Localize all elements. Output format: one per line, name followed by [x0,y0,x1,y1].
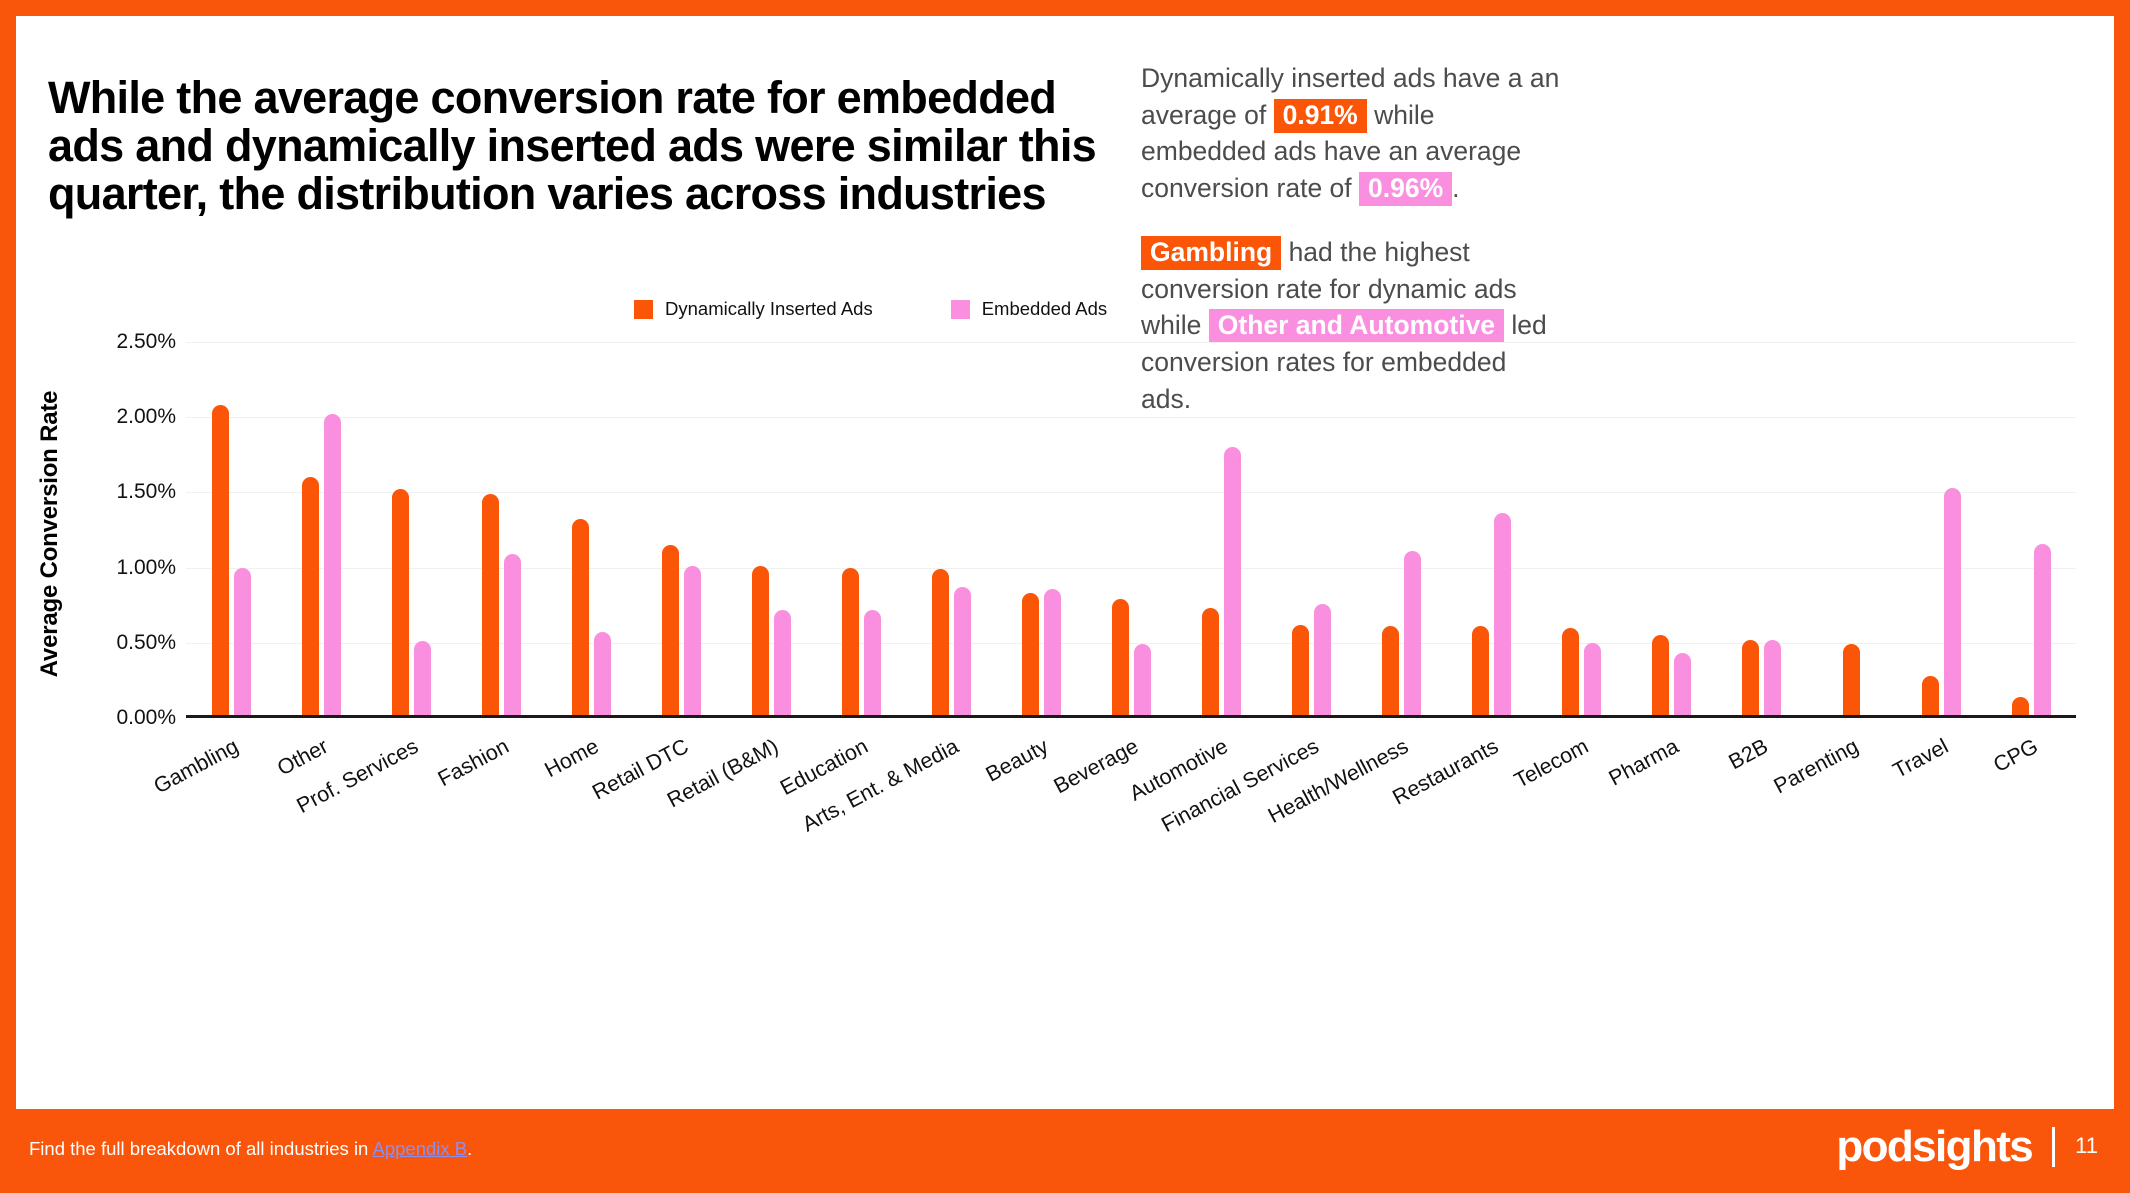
bar[interactable] [392,489,409,718]
y-axis-tick-label: 1.50% [56,480,176,504]
bar[interactable] [1314,604,1331,718]
slide-footer: Find the full breakdown of all industrie… [0,1109,2130,1193]
bar-group [1356,342,1446,718]
legend-label-embedded: Embedded Ads [982,298,1107,320]
bar[interactable] [1742,640,1759,718]
bar[interactable] [1764,640,1781,718]
legend-item-embedded: Embedded Ads [951,298,1107,320]
bar[interactable] [932,569,949,718]
bar-group [456,342,546,718]
bar-groups [186,342,2076,718]
bar[interactable] [1472,626,1489,718]
bar[interactable] [864,610,881,718]
bar[interactable] [1922,676,1939,718]
slide-card: While the average conversion rate for em… [16,16,2114,1109]
x-axis-label-cell: Prof. Services [366,726,456,856]
x-axis-label: Gambling [150,734,243,799]
footer-note-suffix: . [467,1138,472,1159]
bar[interactable] [954,587,971,718]
bar-group [1896,342,1986,718]
bar[interactable] [1292,625,1309,718]
insight-paragraph-1: Dynamically inserted ads have a an avera… [1141,60,1561,206]
bar[interactable] [212,405,229,718]
x-axis-label-cell: Pharma [1626,726,1716,856]
bar-group [276,342,366,718]
bar[interactable] [774,610,791,718]
x-axis-label-cell: Parenting [1806,726,1896,856]
bar[interactable] [234,568,251,718]
bar-group [816,342,906,718]
bar-group [1536,342,1626,718]
bar-group [1176,342,1266,718]
brand-logo: podsights [1836,1125,2032,1169]
page-title: While the average conversion rate for em… [48,74,1103,217]
bar-group [636,342,726,718]
bar[interactable] [1202,608,1219,718]
bar-group [1986,342,2076,718]
stat-dynamic-average: 0.91% [1274,99,1367,133]
bar-group [1626,342,1716,718]
bar[interactable] [842,568,859,718]
x-axis-label-cell: Telecom [1536,726,1626,856]
bar[interactable] [572,519,589,718]
bar-group [1446,342,1536,718]
bar-group [726,342,816,718]
stat-embedded-average: 0.96% [1359,172,1452,206]
bar-group [186,342,276,718]
slide: While the average conversion rate for em… [0,0,2130,1193]
footer-note-prefix: Find the full breakdown of all industrie… [29,1138,372,1159]
bar[interactable] [752,566,769,718]
bar-group [366,342,456,718]
x-axis-labels: GamblingOtherProf. ServicesFashionHomeRe… [186,726,2076,856]
x-axis-label: Travel [1889,734,1953,784]
legend-swatch-icon-dynamic [634,300,653,319]
bar[interactable] [302,477,319,718]
bar[interactable] [1562,628,1579,718]
bar-group [546,342,636,718]
x-axis-label: Other [274,734,333,781]
y-axis-tick-label: 1.00% [56,556,176,580]
page-number: 11 [2075,1135,2098,1159]
y-axis-tick-label: 2.00% [56,405,176,429]
bar[interactable] [1494,513,1511,718]
x-axis-line [186,715,2076,718]
x-axis-label-cell: Travel [1896,726,1986,856]
legend-item-dynamic: Dynamically Inserted Ads [634,298,873,320]
chart-legend: Dynamically Inserted Ads Embedded Ads [634,298,1107,320]
bar[interactable] [1382,626,1399,718]
bar[interactable] [1112,599,1129,718]
bar[interactable] [1652,635,1669,718]
bar[interactable] [1584,643,1601,718]
bar[interactable] [684,566,701,718]
bar-group [996,342,1086,718]
bar[interactable] [1404,551,1421,718]
legend-swatch-icon-embedded [951,300,970,319]
bar[interactable] [1843,644,1860,718]
x-axis-label: Home [540,734,602,783]
bar-group [906,342,996,718]
plot-area [186,342,2076,718]
bar[interactable] [594,632,611,718]
bar[interactable] [504,554,521,718]
x-axis-label-cell: Fashion [456,726,546,856]
insight-1-text-3: . [1452,173,1459,203]
appendix-link[interactable]: Appendix B [372,1138,467,1159]
x-axis-label: B2B [1725,734,1773,775]
bar-chart: Average Conversion Rate 0.00%0.50%1.00%1… [48,334,2078,754]
x-axis-label: CPG [1990,734,2043,778]
y-axis-tick-label: 0.50% [56,631,176,655]
brand-divider [2052,1127,2055,1167]
bar[interactable] [1674,653,1691,718]
footer-note: Find the full breakdown of all industrie… [29,1138,472,1160]
x-axis-label-cell: CPG [1986,726,2076,856]
bar-group [1266,342,1356,718]
bar[interactable] [1044,589,1061,718]
bar[interactable] [324,414,341,718]
bar[interactable] [2034,544,2051,718]
bar[interactable] [662,545,679,718]
bar-group [1086,342,1176,718]
bar-group [1716,342,1806,718]
bar[interactable] [1944,488,1961,718]
bar-group [1806,342,1896,718]
x-axis-label-cell: Gambling [186,726,276,856]
bar[interactable] [1134,644,1151,718]
highlight-gambling: Gambling [1141,236,1281,270]
bar[interactable] [414,641,431,718]
legend-label-dynamic: Dynamically Inserted Ads [665,298,873,320]
bar[interactable] [1022,593,1039,718]
x-axis-label-cell: Arts, Ent. & Media [906,726,996,856]
bar[interactable] [1224,447,1241,718]
bar[interactable] [482,494,499,718]
y-axis-tick-label: 2.50% [56,330,176,354]
y-axis-tick-label: 0.00% [56,706,176,730]
brand-block: podsights 11 [1836,1125,2098,1169]
